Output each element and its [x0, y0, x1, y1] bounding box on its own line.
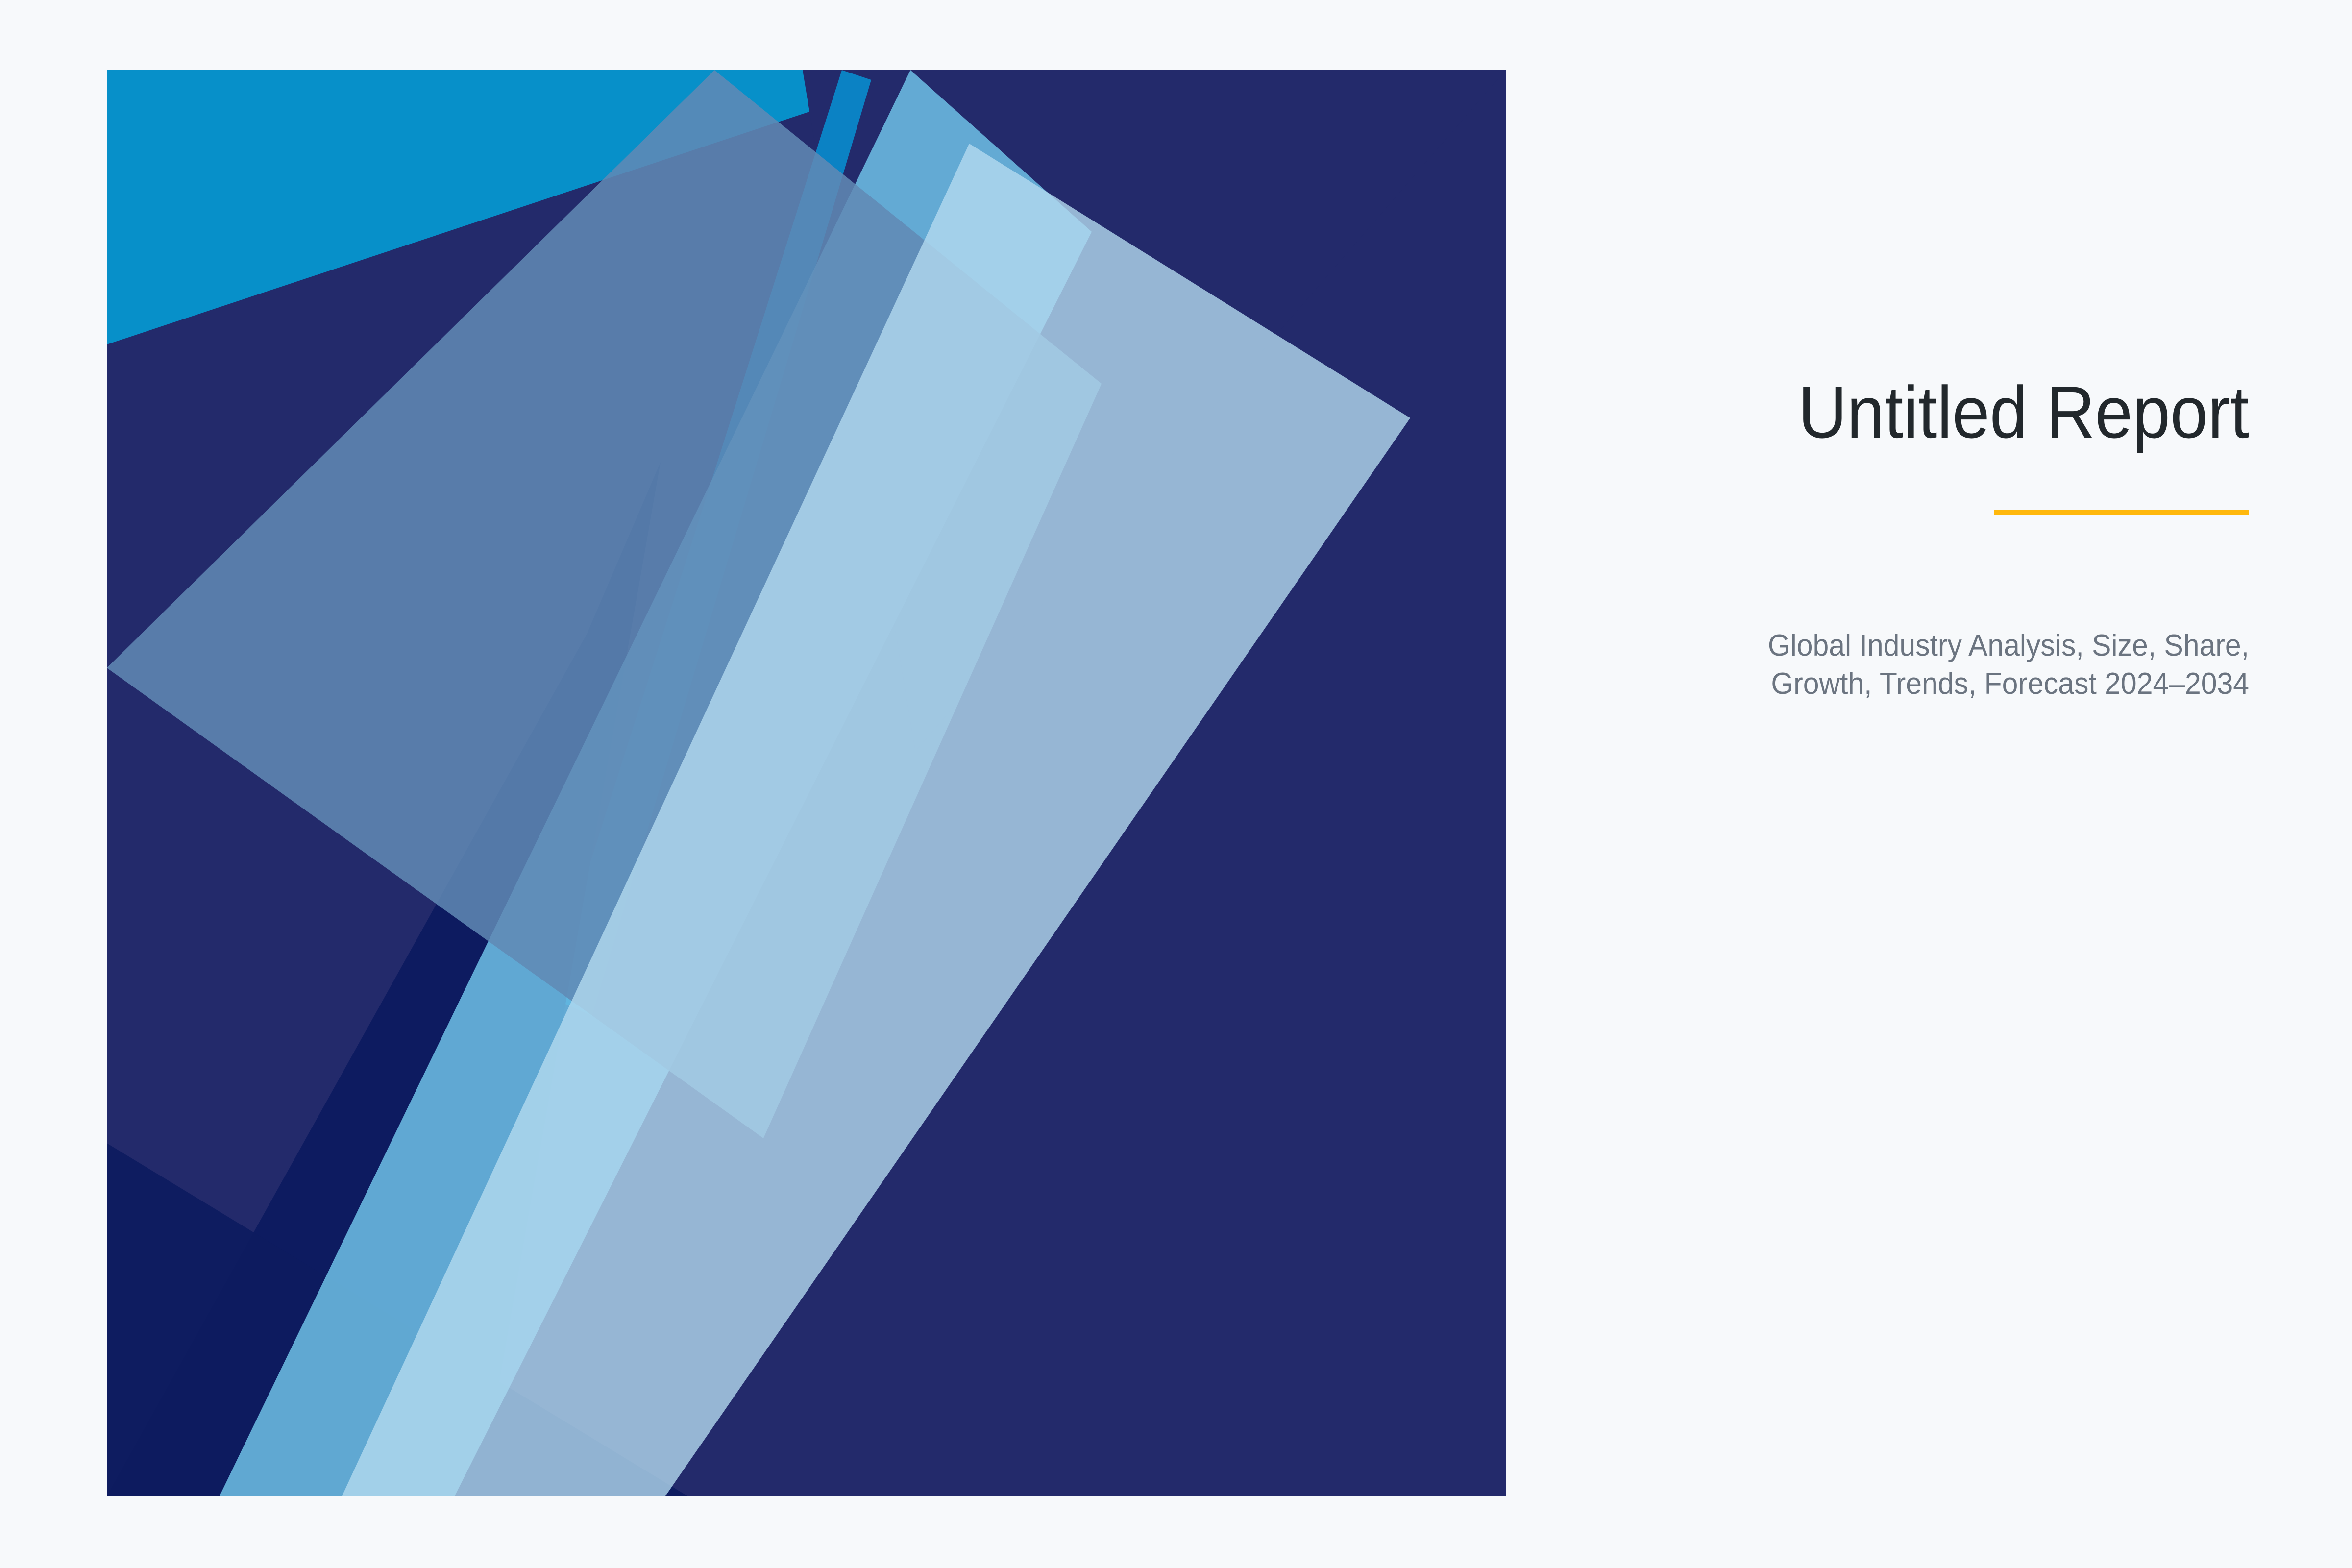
- report-cover-page: Untitled Report Global Industry Analysis…: [0, 0, 2352, 1568]
- cover-artwork: [107, 70, 1506, 1496]
- report-title: Untitled Report: [1641, 372, 2249, 452]
- title-block: Untitled Report Global Industry Analysis…: [1588, 372, 2249, 703]
- report-subtitle: Global Industry Analysis, Size, Share, G…: [1663, 627, 2249, 703]
- abstract-geometric-artwork-svg: [107, 70, 1506, 1496]
- accent-rule: [1994, 510, 2249, 515]
